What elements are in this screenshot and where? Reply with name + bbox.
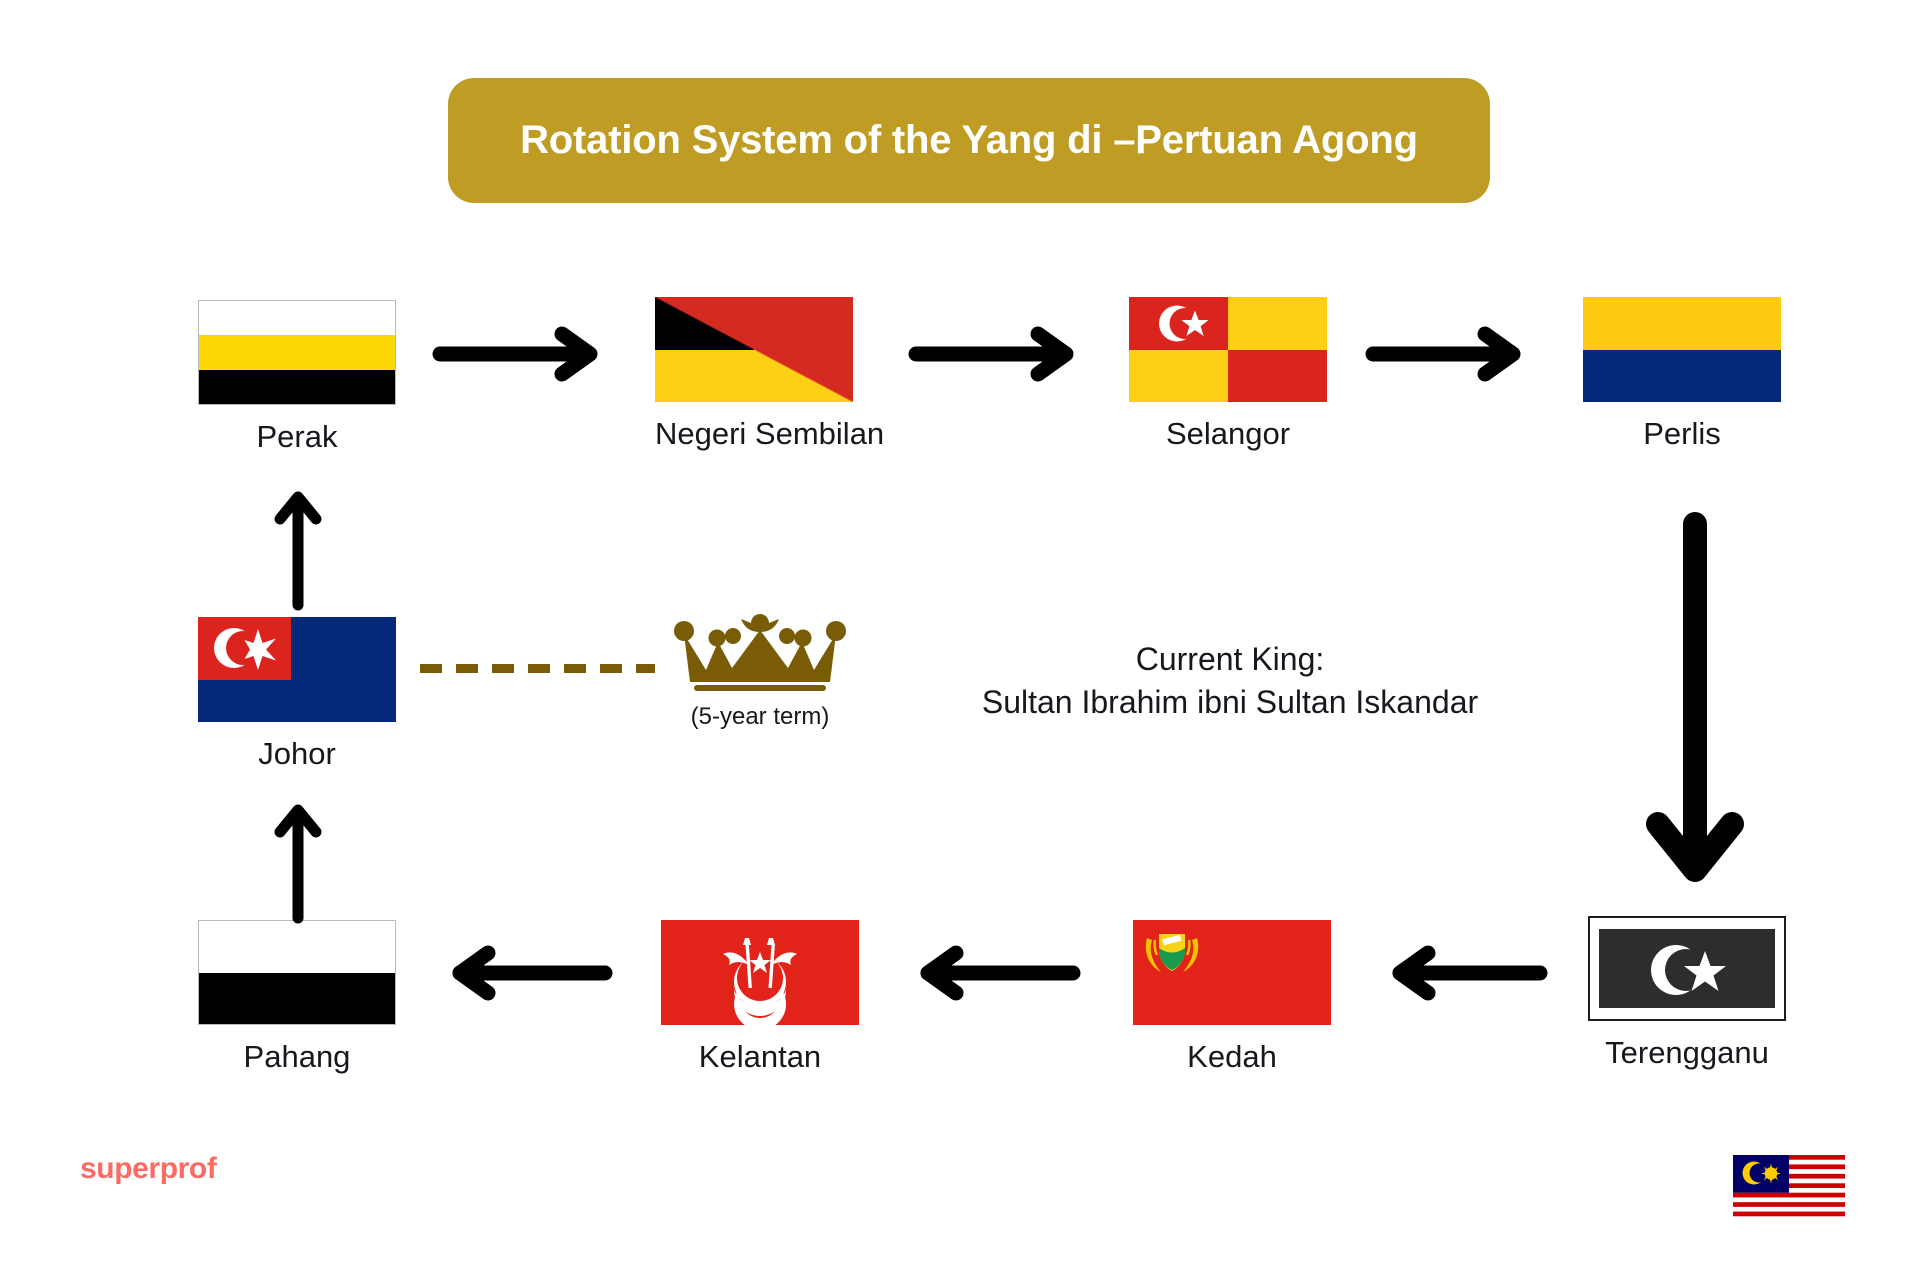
flag-negeri-sembilan bbox=[655, 297, 853, 402]
arrow-kedah-to-kelantan bbox=[908, 945, 1083, 1001]
crown-icon bbox=[672, 612, 848, 696]
flag-perak bbox=[198, 300, 396, 405]
label-kelantan: Kelantan bbox=[661, 1039, 859, 1075]
crescent-star-icon bbox=[1590, 918, 1786, 1021]
node-johor: Johor bbox=[198, 617, 396, 772]
label-kedah: Kedah bbox=[1133, 1039, 1331, 1075]
pahang-black-band bbox=[199, 973, 395, 1025]
label-johor: Johor bbox=[198, 736, 396, 772]
flag-kedah bbox=[1133, 920, 1331, 1025]
crown-group: (5-year term) bbox=[645, 612, 875, 731]
malaysia-flag-icon bbox=[1733, 1155, 1845, 1221]
crescent-star-icon bbox=[198, 617, 396, 722]
arrow-perak-to-negeri-sembilan bbox=[432, 326, 612, 382]
infographic-canvas: Rotation System of the Yang di –Pertuan … bbox=[0, 0, 1920, 1280]
label-pahang: Pahang bbox=[198, 1039, 396, 1075]
dashed-connector-johor-crown bbox=[420, 664, 655, 673]
page-title: Rotation System of the Yang di –Pertuan … bbox=[520, 118, 1418, 163]
current-king-name: Sultan Ibrahim ibni Sultan Iskandar bbox=[930, 681, 1530, 724]
crown-caption: (5-year term) bbox=[645, 703, 875, 731]
label-terengganu: Terengganu bbox=[1588, 1035, 1786, 1071]
arrow-terengganu-to-kedah bbox=[1380, 945, 1550, 1001]
node-pahang: Pahang bbox=[198, 920, 396, 1075]
node-perak: Perak bbox=[198, 300, 396, 455]
label-negeri-sembilan: Negeri Sembilan bbox=[655, 416, 853, 452]
perak-black-band bbox=[199, 370, 395, 404]
title-banner: Rotation System of the Yang di –Pertuan … bbox=[448, 78, 1490, 203]
arrow-perlis-to-terengganu bbox=[1640, 512, 1750, 892]
flag-johor bbox=[198, 617, 396, 722]
label-perak: Perak bbox=[198, 419, 396, 455]
node-terengganu: Terengganu bbox=[1588, 916, 1786, 1071]
current-king-heading: Current King: bbox=[930, 638, 1530, 681]
node-selangor: Selangor bbox=[1129, 297, 1327, 452]
flag-kelantan bbox=[661, 920, 859, 1025]
label-perlis: Perlis bbox=[1583, 416, 1781, 452]
node-perlis: Perlis bbox=[1583, 297, 1781, 452]
flag-perlis bbox=[1583, 297, 1781, 402]
crescent-star-icon bbox=[1129, 297, 1327, 402]
current-king-block: Current King: Sultan Ibrahim ibni Sultan… bbox=[930, 638, 1530, 724]
perak-yellow-band bbox=[199, 335, 395, 369]
flag-selangor bbox=[1129, 297, 1327, 402]
arrow-johor-to-perak bbox=[268, 487, 328, 612]
superprof-logo: superprof bbox=[80, 1152, 216, 1186]
flag-terengganu bbox=[1588, 916, 1786, 1021]
arrow-kelantan-to-pahang bbox=[440, 945, 615, 1001]
node-negeri-sembilan: Negeri Sembilan bbox=[655, 297, 853, 452]
arrow-negeri-sembilan-to-selangor bbox=[908, 326, 1088, 382]
arrow-selangor-to-perlis bbox=[1365, 326, 1535, 382]
arrow-pahang-to-johor bbox=[268, 800, 328, 925]
ns-red-triangle bbox=[655, 297, 853, 402]
kedah-crest-icon bbox=[1133, 920, 1331, 1025]
label-selangor: Selangor bbox=[1129, 416, 1327, 452]
node-kedah: Kedah bbox=[1133, 920, 1331, 1075]
kelantan-emblem-icon bbox=[661, 920, 859, 1025]
flag-pahang bbox=[198, 920, 396, 1025]
perlis-blue-band bbox=[1583, 350, 1781, 403]
node-kelantan: Kelantan bbox=[661, 920, 859, 1075]
